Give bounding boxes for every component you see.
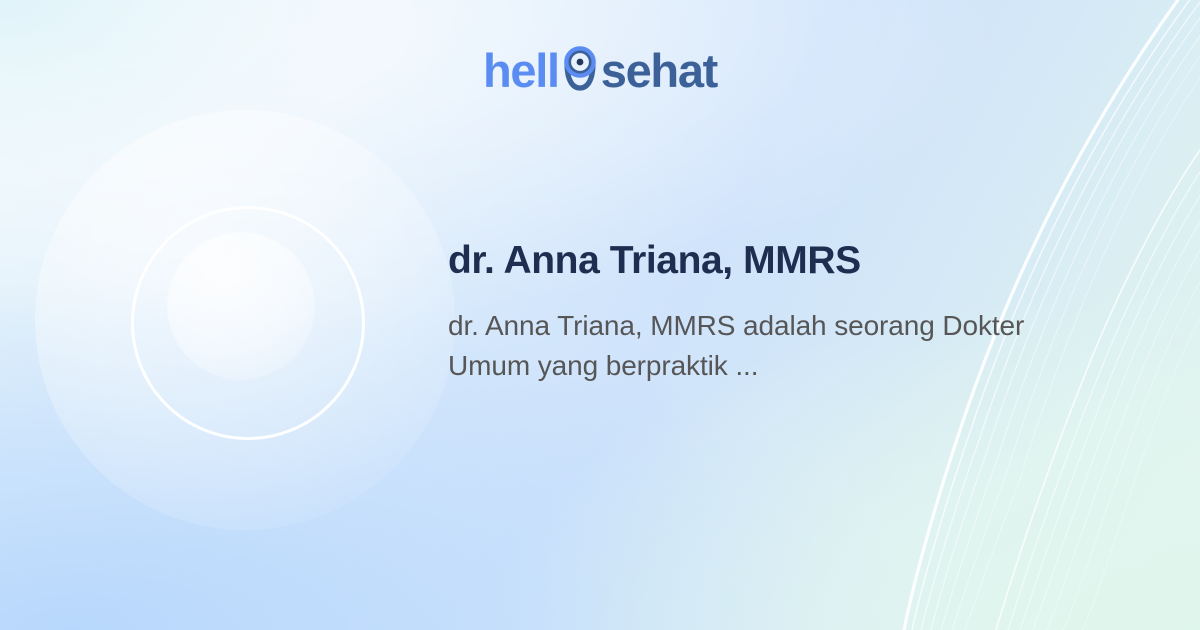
logo-lockup[interactable]: hell sehat <box>483 40 717 94</box>
outer-soft-circle <box>35 110 455 530</box>
white-ring-circle <box>131 206 365 440</box>
page-title: dr. Anna Triana, MMRS <box>448 238 1068 284</box>
logo-text-sehat: sehat <box>601 47 717 94</box>
stethoscope-o-icon <box>559 40 601 87</box>
og-preview-card: hell sehat dr. Anna Triana, MMRS dr. Ann… <box>0 0 1200 630</box>
concentric-circles-ornament <box>0 0 520 630</box>
page-description: dr. Anna Triana, MMRS adalah seorang Dok… <box>448 306 1038 386</box>
logo-text-hell: hell <box>483 47 559 94</box>
brand-logo[interactable]: hell sehat <box>0 40 1200 94</box>
inner-glow-circle <box>167 232 315 380</box>
card-content: dr. Anna Triana, MMRS dr. Anna Triana, M… <box>448 238 1068 386</box>
